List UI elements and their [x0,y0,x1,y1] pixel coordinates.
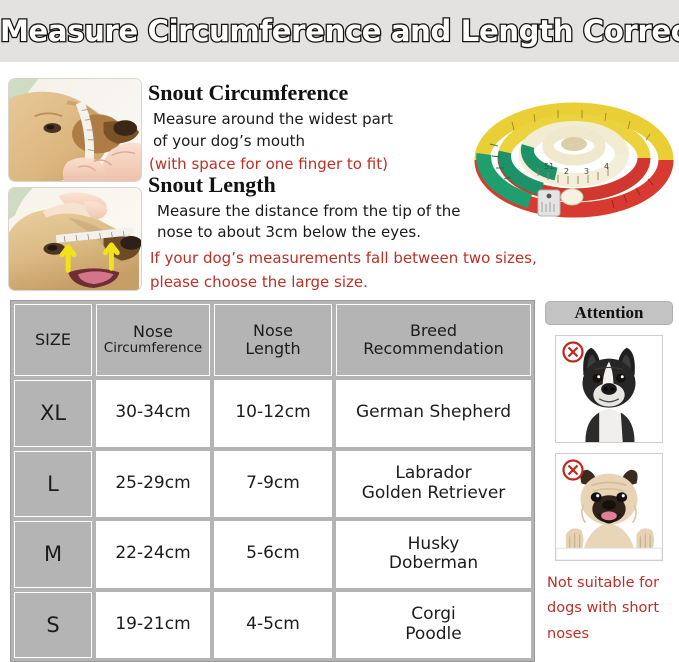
table-header-row: SIZE Nose Circumference Nose Length Bree… [14,304,531,376]
svg-text:4: 4 [604,162,609,171]
snout-circumference-illustration [9,79,141,181]
attention-note-line-1: Not suitable for [547,571,673,596]
cell-length: 5-6cm [214,521,332,588]
cell-breed-line1: Corgi [405,605,461,625]
attention-note-line-3: noses [547,622,673,647]
cell-length: 4-5cm [214,592,332,659]
cell-breed: German Shepherd [336,380,531,447]
snout-length-heading: Snout Length [148,172,276,198]
header-size: SIZE [14,304,92,376]
header-breed-recommendation: Breed Recommendation [336,304,531,376]
svg-text:51: 51 [544,162,554,171]
cell-circumference: 19-21cm [96,592,210,659]
unsuitable-breed-photo-2 [555,453,663,561]
snout-circumference-heading: Snout Circumference [148,80,348,106]
cell-breed-line1: German Shepherd [356,403,511,423]
table-row: M 22-24cm 5-6cm Husky Doberman [14,521,531,588]
sizing-note-line-2: please choose the large size. [150,273,368,291]
header-nose-length-line1: Nose [245,322,300,340]
cell-size: S [14,592,92,659]
attention-title: Attention [545,301,673,325]
length-instruction-line-2: nose to about 3cm below the eyes. [157,223,421,241]
cell-length: 10-12cm [214,380,332,447]
header-nose-circumference: Nose Circumference [96,304,210,376]
circumference-instruction-line-2: of your dog’s mouth [153,132,305,150]
cell-circumference: 25-29cm [96,451,210,518]
cell-breed: Labrador Golden Retriever [336,451,531,518]
header-nose-circumference-line1: Nose [104,323,202,341]
circumference-instruction-note: (with space for one finger to fit) [149,155,388,173]
tape-measure-photo: 51 2 3 4 [472,96,677,224]
snout-length-illustration [9,188,141,290]
attention-panel: Attention [545,301,673,662]
svg-text:2: 2 [564,167,569,176]
header-breed-line2: Recommendation [363,340,504,358]
snout-circumference-photo [8,78,142,182]
cell-circumference: 22-24cm [96,521,210,588]
header-breed-line1: Breed [363,322,504,340]
cell-breed: Husky Doberman [336,521,531,588]
cell-breed: Corgi Poodle [336,592,531,659]
cell-size: L [14,451,92,518]
cell-size: M [14,521,92,588]
cell-breed-line1: Husky [389,535,478,555]
size-chart-table: SIZE Nose Circumference Nose Length Bree… [10,300,535,662]
attention-note-line-2: dogs with short [547,596,673,621]
x-circle-icon [561,458,585,482]
cell-breed-line1: Labrador [362,464,506,484]
header-nose-length-line2: Length [245,340,300,358]
snout-length-photo [8,187,142,291]
x-circle-icon [561,340,585,364]
attention-note: Not suitable for dogs with short noses [547,571,673,647]
length-instruction-line-1: Measure the distance from the tip of the [157,202,460,220]
header-nose-circumference-line2: Circumference [104,341,202,357]
circumference-instruction-line-1: Measure around the widest part [153,110,393,128]
page-title: Measure Circumference and Length Correct… [0,14,679,48]
header-nose-length: Nose Length [214,304,332,376]
unsuitable-breed-photo-1 [555,335,663,443]
table-row: XL 30-34cm 10-12cm German Shepherd [14,380,531,447]
cell-breed-line2: Poodle [405,625,461,645]
cell-circumference: 30-34cm [96,380,210,447]
cell-length: 7-9cm [214,451,332,518]
table-row: L 25-29cm 7-9cm Labrador Golden Retrieve… [14,451,531,518]
header-size-label: SIZE [35,331,71,349]
tape-measure-illustration: 51 2 3 4 [472,96,677,224]
cell-breed-line2: Golden Retriever [362,484,506,504]
svg-text:3: 3 [584,167,589,176]
cell-size: XL [14,380,92,447]
table-row: S 19-21cm 4-5cm Corgi Poodle [14,592,531,659]
cell-breed-line2: Doberman [389,554,478,574]
sizing-note-line-1: If your dog’s measurements fall between … [150,249,537,267]
